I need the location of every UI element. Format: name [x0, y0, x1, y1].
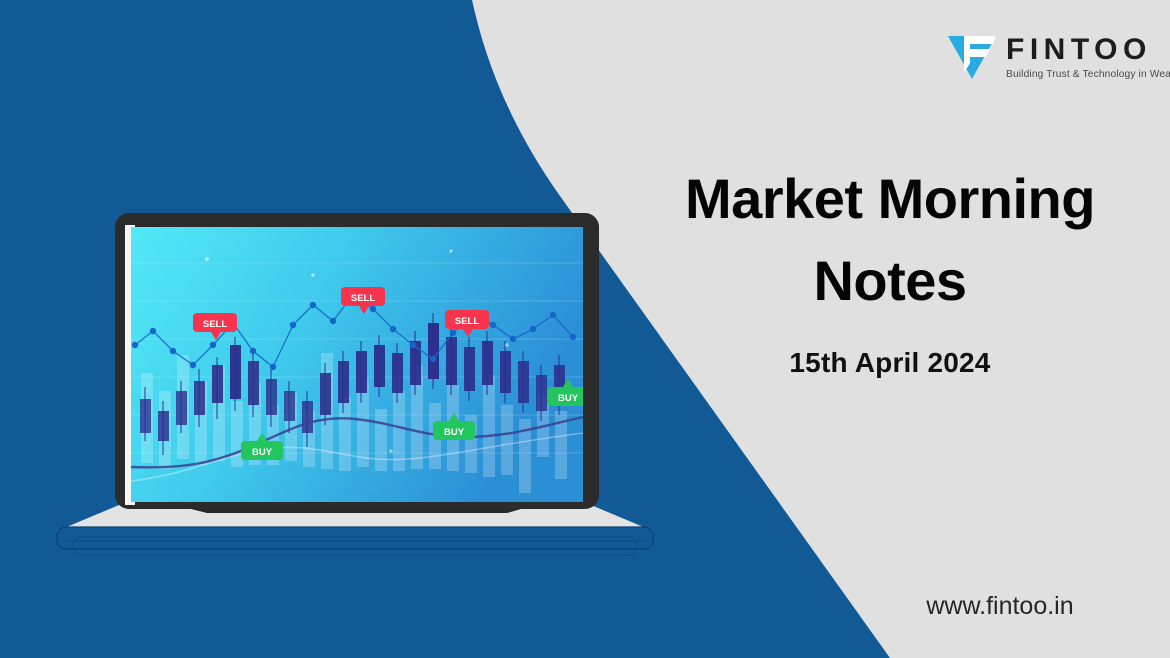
- poster-canvas: SELL SELL SELL BUY: [0, 0, 1170, 658]
- title-line-2: Notes: [640, 240, 1140, 322]
- laptop-base: [57, 505, 653, 555]
- website-url[interactable]: www.fintoo.in: [870, 592, 1130, 621]
- brand-tagline: Building Trust & Technology in Wealth: [1006, 69, 1170, 80]
- svg-text:BUY: BUY: [444, 427, 465, 438]
- svg-text:BUY: BUY: [558, 393, 579, 404]
- page-date: 15th April 2024: [640, 347, 1140, 379]
- svg-text:SELL: SELL: [203, 319, 227, 330]
- laptop-illustration: SELL SELL SELL BUY: [55, 205, 655, 560]
- page-title: Market Morning Notes: [640, 158, 1140, 323]
- brand-logo[interactable]: FINTOO Building Trust & Technology in We…: [946, 33, 1170, 81]
- svg-text:BUY: BUY: [252, 447, 273, 458]
- svg-text:SELL: SELL: [351, 293, 375, 304]
- fintoo-triangle-f-logo-icon: [946, 33, 998, 81]
- title-line-1: Market Morning: [640, 158, 1140, 240]
- svg-text:SELL: SELL: [455, 316, 479, 327]
- laptop-screen: SELL SELL SELL BUY: [131, 227, 589, 502]
- brand-name: FINTOO: [1006, 35, 1170, 65]
